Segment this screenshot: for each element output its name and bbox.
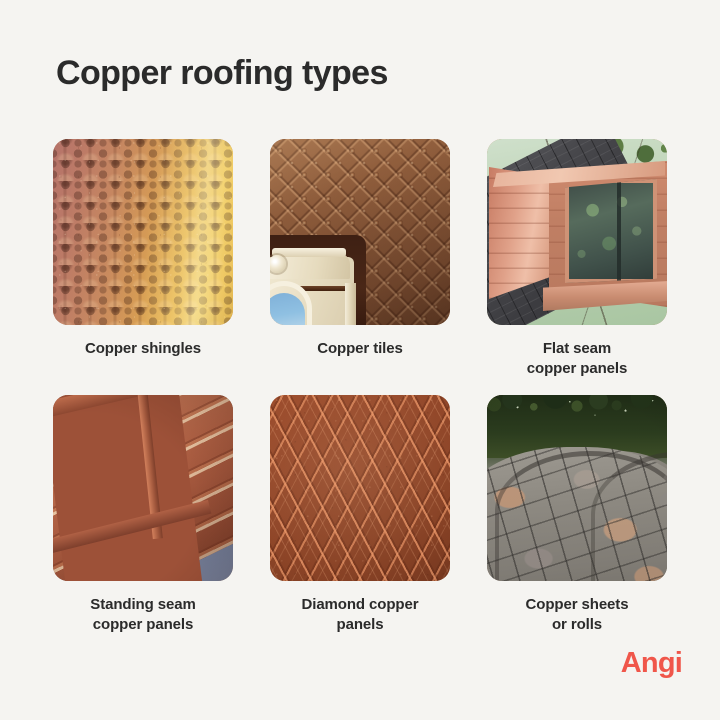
caption-copper-sheets-or-rolls: Copper sheets or rolls bbox=[487, 595, 667, 635]
card-copper-shingles[interactable]: Copper shingles bbox=[53, 139, 233, 379]
ornate-dormer bbox=[270, 227, 366, 325]
flat-dormer-box bbox=[489, 161, 665, 311]
card-copper-sheets-or-rolls[interactable]: Copper sheets or rolls bbox=[487, 395, 667, 635]
caption-line-1: Copper tiles bbox=[270, 339, 450, 359]
dormer-column bbox=[345, 283, 356, 325]
flat-window-mullion bbox=[617, 181, 621, 281]
thumbnail-flat-seam-copper-panels[interactable] bbox=[487, 139, 667, 325]
caption-standing-seam-copper-panels: Standing seam copper panels bbox=[53, 595, 233, 635]
standing-seam-vignette bbox=[53, 395, 233, 581]
flat-window-reflection bbox=[565, 179, 657, 283]
shingles-vignette bbox=[53, 139, 233, 325]
thumbnail-standing-seam-copper-panels[interactable] bbox=[53, 395, 233, 581]
infographic-root: Copper roofing types Copper shingles bbox=[0, 0, 720, 720]
caption-line-1: Diamond copper bbox=[270, 595, 450, 615]
caption-line-2: panels bbox=[270, 615, 450, 635]
caption-line-1: Standing seam bbox=[53, 595, 233, 615]
diamond-vignette bbox=[270, 395, 450, 581]
caption-line-1: Copper shingles bbox=[53, 339, 233, 359]
card-copper-tiles[interactable]: Copper tiles bbox=[270, 139, 450, 379]
caption-line-2: copper panels bbox=[487, 359, 667, 379]
caption-line-2: copper panels bbox=[53, 615, 233, 635]
card-standing-seam-copper-panels[interactable]: Standing seam copper panels bbox=[53, 395, 233, 635]
thumbnail-copper-shingles[interactable] bbox=[53, 139, 233, 325]
thumbnail-diamond-copper-panels[interactable] bbox=[270, 395, 450, 581]
caption-diamond-copper-panels: Diamond copper panels bbox=[270, 595, 450, 635]
caption-flat-seam-copper-panels: Flat seam copper panels bbox=[487, 339, 667, 379]
thumbnail-copper-tiles[interactable] bbox=[270, 139, 450, 325]
card-flat-seam-copper-panels[interactable]: Flat seam copper panels bbox=[487, 139, 667, 379]
flat-panel-side-face bbox=[489, 167, 555, 299]
dormer-cornice bbox=[272, 248, 346, 257]
page-title: Copper roofing types bbox=[56, 54, 388, 93]
caption-copper-tiles: Copper tiles bbox=[270, 339, 450, 359]
flat-window bbox=[565, 179, 657, 283]
angi-logo[interactable]: Angi bbox=[621, 649, 682, 678]
roofing-types-grid: Copper shingles bbox=[53, 139, 668, 635]
sheets-vignette bbox=[487, 395, 667, 581]
caption-line-2: or rolls bbox=[487, 615, 667, 635]
caption-line-1: Flat seam bbox=[487, 339, 667, 359]
caption-copper-shingles: Copper shingles bbox=[53, 339, 233, 359]
thumbnail-copper-sheets-or-rolls[interactable] bbox=[487, 395, 667, 581]
card-diamond-copper-panels[interactable]: Diamond copper panels bbox=[270, 395, 450, 635]
caption-line-1: Copper sheets bbox=[487, 595, 667, 615]
